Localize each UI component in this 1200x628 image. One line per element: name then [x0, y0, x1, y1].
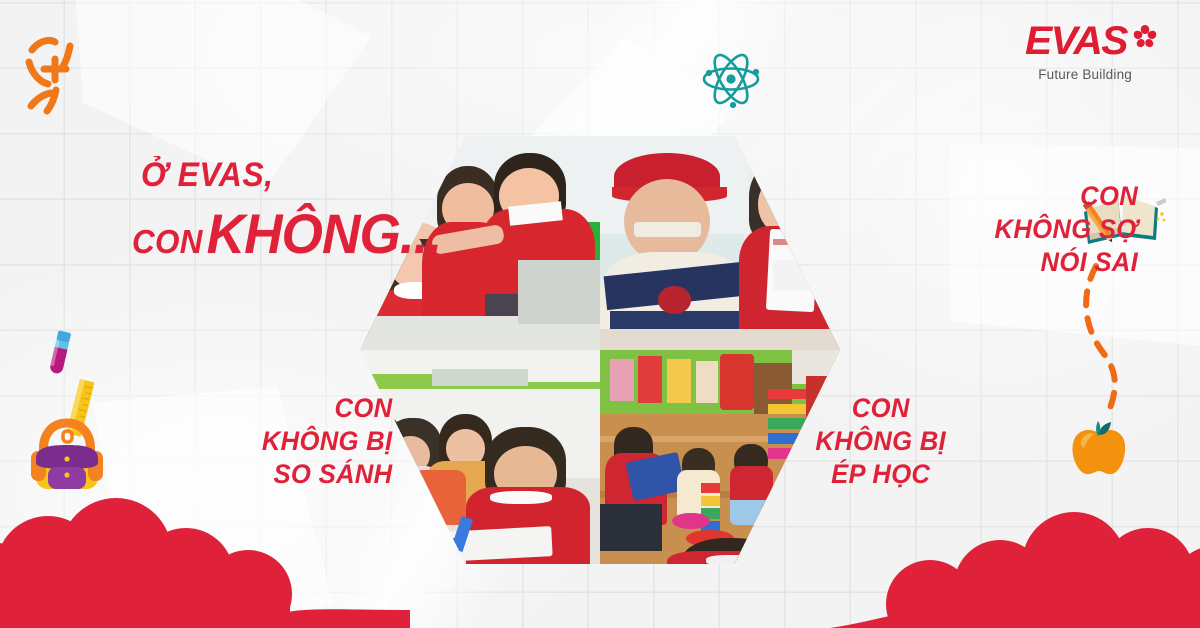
headline-line-1: Ở EVAS,: [141, 158, 415, 192]
claim-khong-bi-so-sanh: CON KHÔNG BỊ SO SÁNH: [255, 392, 392, 491]
headline: Ở EVAS, CONKHÔNG...: [132, 158, 432, 262]
logo-wordmark: EVAS: [1025, 22, 1127, 60]
banner-canvas: Ở EVAS, CONKHÔNG... CON KHÔNG SỢ NÓI SAI…: [0, 0, 1200, 628]
logo-row: EVAS: [1026, 22, 1158, 60]
headline-con: CON: [132, 223, 203, 260]
claim-khong-bi-ep-hoc: CON KHÔNG BỊ ÉP HỌC: [812, 392, 949, 491]
logo-tagline: Future Building: [1026, 67, 1132, 82]
headline-khong: KHÔNG...: [207, 202, 442, 265]
claim-line: KHÔNG SỢ: [995, 213, 1138, 246]
headline-line-2: CONKHÔNG...: [132, 206, 417, 262]
claim-line: CON: [261, 392, 392, 425]
claim-khong-so-noi-sai: CON KHÔNG SỢ NÓI SAI: [987, 180, 1138, 279]
flower-pinwheel-icon: [1132, 23, 1158, 49]
claim-line: SO SÁNH: [261, 458, 392, 491]
claim-line: KHÔNG BỊ: [261, 425, 392, 458]
claim-line: KHÔNG BỊ: [815, 425, 946, 458]
claim-line: ÉP HỌC: [815, 458, 946, 491]
claim-line: NÓI SAI: [995, 246, 1138, 279]
claim-line: CON: [815, 392, 946, 425]
claim-line: CON: [995, 180, 1138, 213]
evas-logo[interactable]: EVAS Future Building: [1026, 22, 1158, 82]
